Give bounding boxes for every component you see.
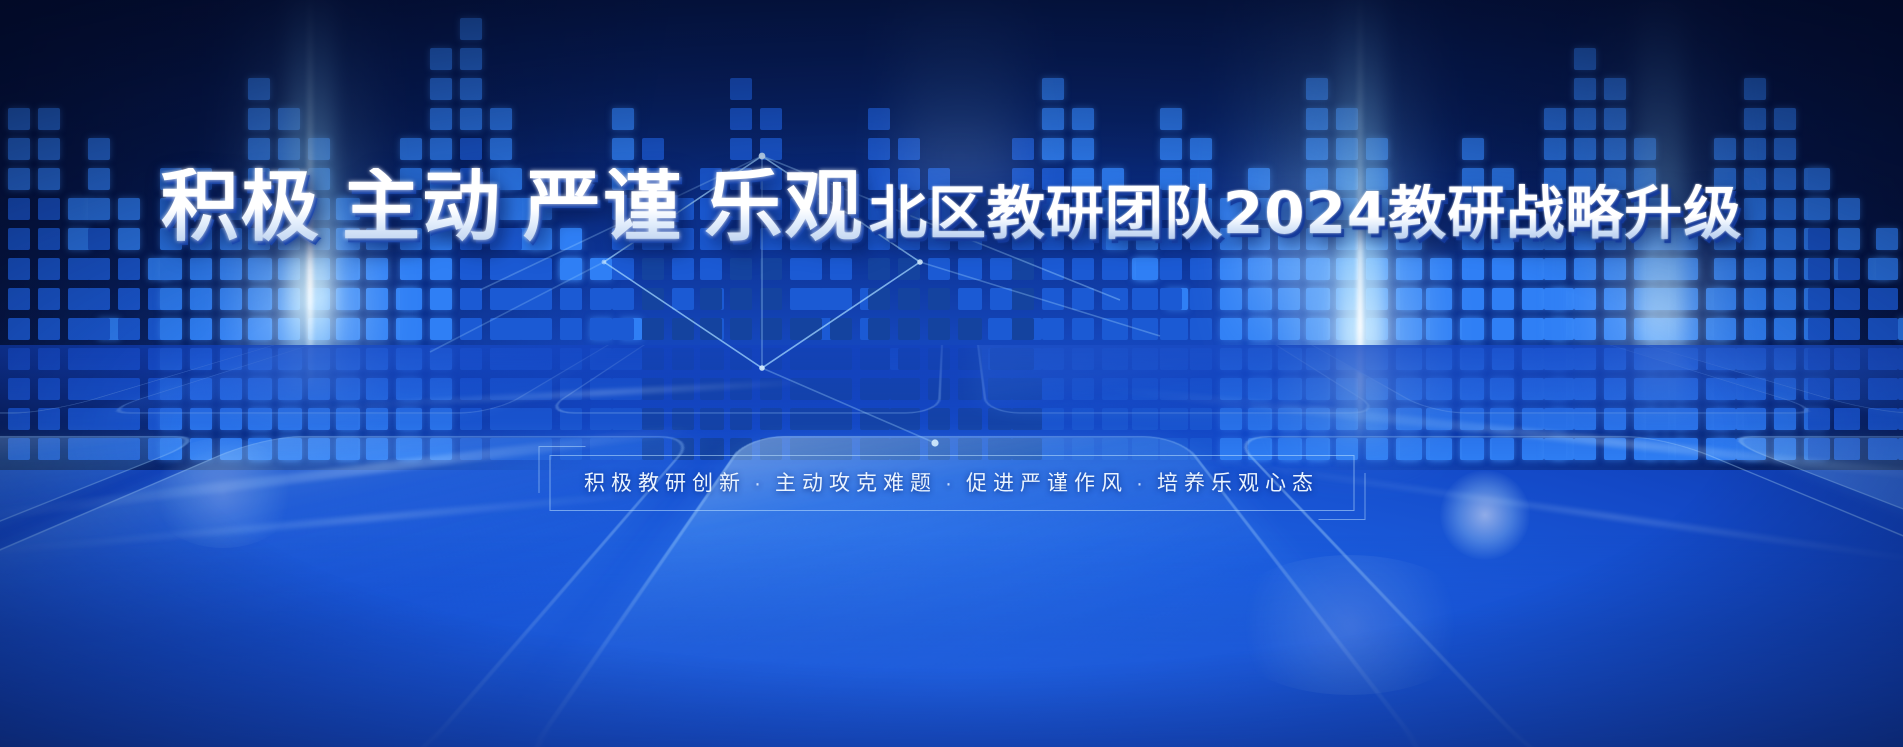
skyline-pixel: [430, 48, 452, 70]
skyline-pixel: [800, 258, 822, 280]
skyline-pixel: [590, 318, 612, 340]
skyline-pixel: [38, 288, 60, 310]
tagline-item-4: 培养乐观心态: [1157, 472, 1319, 495]
skyline-pixel: [1462, 138, 1484, 160]
skyline-pixel: [1042, 78, 1064, 100]
skyline-pixel: [760, 288, 782, 310]
skyline-pixel: [490, 138, 512, 160]
skyline-pixel: [88, 138, 110, 160]
skyline-pixel: [868, 288, 890, 310]
skyline-pixel: [1136, 258, 1158, 280]
skyline-pixel: [400, 318, 422, 340]
skyline-pixel: [118, 288, 140, 310]
headline-separator-1: ·: [321, 189, 342, 235]
tagline-separator-2: ·: [937, 472, 966, 495]
skyline-pixel: [8, 288, 30, 310]
skyline-pixel: [1774, 108, 1796, 130]
skyline-pixel: [1876, 258, 1898, 280]
skyline-pixel: [1012, 258, 1034, 280]
headline-separator-3: ·: [683, 189, 704, 235]
skyline-pixel: [530, 318, 552, 340]
skyline-pixel: [160, 288, 182, 310]
skyline-pixel: [928, 288, 950, 310]
skyline-pixel: [960, 258, 982, 280]
skyline-pixel: [1042, 318, 1064, 340]
skyline-pixel: [1744, 138, 1766, 160]
headline-separator-2: ·: [502, 189, 523, 235]
skyline-pixel: [642, 138, 664, 160]
skyline-pixel: [88, 258, 110, 280]
skyline-pixel: [560, 318, 582, 340]
skyline-pixel: [460, 18, 482, 40]
page-subheadline: 北区教研团队2024教研战略升级: [869, 184, 1742, 242]
skyline-pixel: [430, 78, 452, 100]
skyline-pixel: [500, 258, 522, 280]
skyline-pixel: [1072, 318, 1094, 340]
skyline-pixel: [830, 288, 852, 310]
skyline-pixel: [672, 288, 694, 310]
skyline-pixel: [430, 318, 452, 340]
skyline-pixel: [1430, 258, 1452, 280]
skyline-pixel: [1042, 138, 1064, 160]
skyline-pixel: [460, 108, 482, 130]
skyline-pixel: [1190, 258, 1212, 280]
perspective-floor: [0, 345, 1903, 747]
skyline-pixel: [430, 258, 452, 280]
skyline-pixel: [590, 258, 612, 280]
skyline-pixel: [990, 258, 1012, 280]
skyline-pixel: [1160, 108, 1182, 130]
skyline-pixel: [1136, 318, 1158, 340]
skyline-pixel: [1574, 318, 1596, 340]
skyline-pixel: [500, 318, 522, 340]
floor-tile: [539, 345, 944, 414]
skyline-pixel: [1106, 258, 1128, 280]
skyline-pixel: [1808, 318, 1830, 340]
skyline-pixel: [642, 318, 664, 340]
skyline-pixel: [1574, 78, 1596, 100]
skyline-pixel: [1574, 138, 1596, 160]
skyline-pixel: [990, 288, 1012, 310]
skyline-pixel: [730, 138, 752, 160]
skyline-pixel: [1898, 318, 1903, 340]
skyline-pixel: [1106, 288, 1128, 310]
skyline-pixel: [868, 318, 890, 340]
skyline-pixel: [730, 258, 752, 280]
tagline-frame: 积极教研创新·主动攻克难题·促进严谨作风·培养乐观心态: [549, 455, 1354, 511]
skyline-pixel: [8, 318, 30, 340]
tagline-item-2: 主动攻克难题: [775, 472, 937, 495]
skyline-pixel: [612, 258, 634, 280]
skyline-pixel: [366, 258, 388, 280]
skyline-pixel: [1072, 108, 1094, 130]
skyline-pixel: [642, 288, 664, 310]
skyline-pixel: [868, 258, 890, 280]
skyline-pixel: [1220, 288, 1242, 310]
skyline-pixel: [1522, 318, 1544, 340]
skyline-pixel: [700, 258, 722, 280]
tagline-container: 积极教研创新·主动攻克难题·促进严谨作风·培养乐观心态: [549, 455, 1354, 511]
skyline-pixel: [8, 108, 30, 130]
skyline-pixel: [1744, 258, 1766, 280]
skyline-pixel: [190, 288, 212, 310]
glow-dot-left: [148, 438, 298, 548]
floor-tile: [974, 345, 1387, 414]
tagline-separator-3: ·: [1128, 472, 1157, 495]
skyline-pixel: [400, 258, 422, 280]
skyline-pixel: [366, 288, 388, 310]
skyline-pixel: [800, 318, 822, 340]
skyline-pixel: [118, 258, 140, 280]
skyline-pixel: [612, 108, 634, 130]
skyline-pixel: [672, 318, 694, 340]
skyline-pixel: [1072, 138, 1094, 160]
glow-dot-bottom: [1220, 555, 1480, 695]
skyline-pixel: [530, 258, 552, 280]
skyline-pixel: [1574, 48, 1596, 70]
skyline-pixel: [1160, 258, 1182, 280]
skyline-pixel: [88, 288, 110, 310]
skyline-pixel: [898, 258, 920, 280]
skyline-pixel: [38, 258, 60, 280]
skyline-pixel: [760, 318, 782, 340]
skyline-pixel: [1462, 288, 1484, 310]
skyline-pixel: [1136, 288, 1158, 310]
skyline-pixel: [8, 258, 30, 280]
skyline-pixel: [68, 288, 90, 310]
headline-part-1: 积极: [161, 162, 321, 252]
skyline-pixel: [1430, 318, 1452, 340]
skyline-pixel: [190, 318, 212, 340]
skyline-pixel: [1544, 108, 1566, 130]
skyline-pixel: [830, 258, 852, 280]
skyline-pixel: [8, 138, 30, 160]
skyline-pixel: [1160, 138, 1182, 160]
skyline-pixel: [220, 318, 242, 340]
skyline-pixel: [800, 288, 822, 310]
skyline-pixel: [1522, 288, 1544, 310]
skyline-pixel: [1220, 318, 1242, 340]
skyline-pixel: [118, 318, 140, 340]
skyline-pixel: [1544, 318, 1566, 340]
skyline-pixel: [38, 138, 60, 160]
skyline-pixel: [1072, 258, 1094, 280]
skyline-pixel: [760, 138, 782, 160]
title-block: 积极·主动·严谨·乐观 北区教研团队2024教研战略升级: [0, 168, 1903, 246]
skyline-pixel: [1838, 288, 1860, 310]
skyline-pixel: [1744, 78, 1766, 100]
skyline-pixel: [1160, 318, 1182, 340]
tagline-item-3: 促进严谨作风: [966, 472, 1128, 495]
skyline-pixel: [1544, 288, 1566, 310]
skyline-pixel: [490, 108, 512, 130]
skyline-pixel: [68, 258, 90, 280]
skyline-pixel: [760, 258, 782, 280]
skyline-pixel: [430, 108, 452, 130]
skyline-pixel: [1774, 138, 1796, 160]
skyline-pixel: [590, 288, 612, 310]
skyline-pixel: [1774, 288, 1796, 310]
skyline-pixel: [1072, 288, 1094, 310]
tagline-separator-1: ·: [746, 472, 775, 495]
skyline-pixel: [1744, 108, 1766, 130]
skyline-pixel: [898, 318, 920, 340]
headline-part-4: 乐观: [704, 162, 864, 252]
skyline-pixel: [1220, 258, 1242, 280]
skyline-pixel: [1160, 288, 1182, 310]
skyline-pixel: [960, 288, 982, 310]
skyline-pixel: [400, 288, 422, 310]
skyline-pixel: [430, 138, 452, 160]
skyline-pixel: [1574, 288, 1596, 310]
skyline-pixel: [612, 318, 634, 340]
skyline-pixel: [730, 288, 752, 310]
skyline-pixel: [460, 288, 482, 310]
skyline-pixel: [160, 318, 182, 340]
skyline-pixel: [1190, 288, 1212, 310]
headline-part-3: 严谨: [523, 162, 683, 252]
skyline-pixel: [612, 288, 634, 310]
tagline-item-1: 积极教研创新: [584, 472, 746, 495]
glow-dot-right: [1440, 470, 1530, 560]
skyline-pixel: [88, 318, 110, 340]
skyline-pixel: [460, 258, 482, 280]
skyline-pixel: [1042, 258, 1064, 280]
skyline-pixel: [760, 108, 782, 130]
skyline-pixel: [1430, 288, 1452, 310]
skyline-pixel: [1744, 318, 1766, 340]
skyline-pixel: [700, 288, 722, 310]
headline-part-2: 主动: [342, 162, 502, 252]
skyline-pixel: [1808, 288, 1830, 310]
skyline-pixel: [366, 318, 388, 340]
skyline-pixel: [1574, 108, 1596, 130]
skyline-pixel: [730, 318, 752, 340]
skyline-pixel: [38, 318, 60, 340]
skyline-pixel: [1042, 288, 1064, 310]
skyline-pixel: [1462, 258, 1484, 280]
skyline-pixel: [1876, 318, 1898, 340]
skyline-pixel: [460, 318, 482, 340]
skyline-pixel: [1190, 138, 1212, 160]
skyline-pixel: [68, 318, 90, 340]
skyline-pixel: [460, 138, 482, 160]
skyline-pixel: [898, 288, 920, 310]
skyline-pixel: [672, 258, 694, 280]
skyline-pixel: [1838, 258, 1860, 280]
page-headline: 积极·主动·严谨·乐观: [161, 168, 865, 246]
skyline-pixel: [1462, 318, 1484, 340]
skyline-pixel: [160, 258, 182, 280]
skyline-pixel: [460, 78, 482, 100]
skyline-pixel: [990, 318, 1012, 340]
skyline-pixel: [1744, 288, 1766, 310]
skyline-pixel: [1774, 318, 1796, 340]
skyline-pixel: [1492, 258, 1514, 280]
skyline-pixel: [1492, 288, 1514, 310]
skyline-pixel: [190, 258, 212, 280]
skyline-pixel: [1544, 138, 1566, 160]
skyline-pixel: [928, 258, 950, 280]
skyline-pixel: [830, 318, 852, 340]
skyline-pixel: [530, 288, 552, 310]
skyline-pixel: [1808, 258, 1830, 280]
floor-tile-plane: [0, 345, 1903, 747]
skyline-pixel: [642, 258, 664, 280]
skyline-pixel: [868, 108, 890, 130]
skyline-pixel: [1492, 318, 1514, 340]
skyline-pixel: [868, 138, 890, 160]
skyline-pixel: [560, 258, 582, 280]
skyline-pixel: [1190, 318, 1212, 340]
skyline-pixel: [400, 138, 422, 160]
floor-tile: [1563, 345, 1903, 414]
skyline-pixel: [700, 318, 722, 340]
skyline-pixel: [1574, 258, 1596, 280]
skyline-pixel: [1774, 258, 1796, 280]
skyline-pixel: [430, 288, 452, 310]
skyline-pixel: [1012, 318, 1034, 340]
tagline-text: 积极教研创新·主动攻克难题·促进严谨作风·培养乐观心态: [584, 467, 1319, 497]
skyline-pixel: [1042, 108, 1064, 130]
hero-banner: 积极·主动·严谨·乐观 北区教研团队2024教研战略升级 积极教研创新·主动攻克…: [0, 0, 1903, 747]
skyline-pixel: [612, 138, 634, 160]
skyline-pixel: [460, 48, 482, 70]
skyline-pixel: [928, 318, 950, 340]
skyline-pixel: [1012, 288, 1034, 310]
skyline-pixel: [1544, 258, 1566, 280]
skyline-pixel: [500, 288, 522, 310]
skyline-pixel: [220, 288, 242, 310]
skyline-pixel: [1106, 318, 1128, 340]
skyline-pixel: [1876, 288, 1898, 310]
skyline-pixel: [560, 288, 582, 310]
skyline-pixel: [730, 78, 752, 100]
floor-tile: [1858, 345, 1903, 414]
skyline-pixel: [1522, 258, 1544, 280]
skyline-pixel: [1838, 318, 1860, 340]
skyline-pixel: [38, 108, 60, 130]
skyline-pixel: [730, 108, 752, 130]
skyline-pixel: [220, 258, 242, 280]
skyline-pixel: [960, 318, 982, 340]
